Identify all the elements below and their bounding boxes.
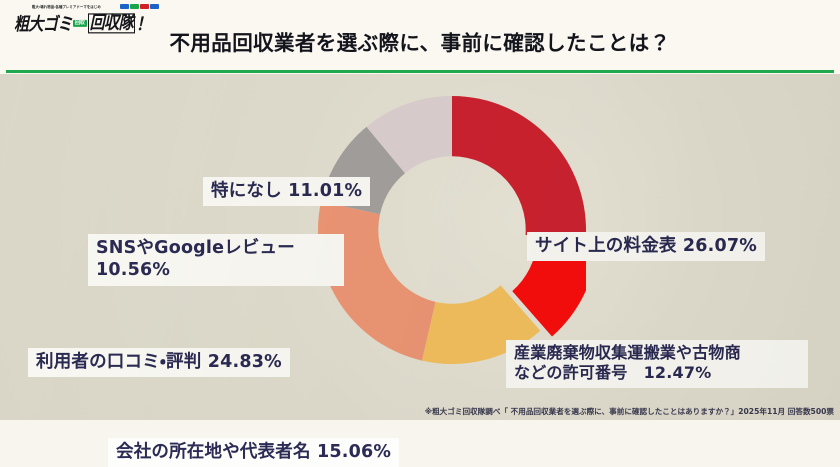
logo-chip-green bbox=[130, 4, 139, 9]
donut-chart-svg bbox=[318, 80, 586, 380]
logo-chip-red bbox=[140, 4, 149, 9]
logo-chip-blue bbox=[120, 4, 129, 9]
logo-tagline: 粗大・壊れ物品・各種プレミアドーマをはじめ bbox=[32, 4, 101, 9]
logo-chip-blue-2 bbox=[150, 4, 159, 9]
donut-slice bbox=[321, 127, 405, 214]
donut-slice bbox=[422, 285, 540, 364]
donut-slice bbox=[318, 201, 435, 360]
donut-chart bbox=[318, 80, 586, 380]
label-site-price-list: サイト上の料金表 26.07% bbox=[527, 232, 765, 261]
label-user-reviews: 利用者の口コミ・評判 24.83% bbox=[28, 348, 290, 377]
label-sns-google: SNSやGoogleレビュー 10.56% bbox=[88, 234, 344, 286]
infographic-root: 粗大・壊れ物品・各種プレミアドーマをはじめ 粗大ゴミ 回収 回収隊 ！ 不用品回… bbox=[0, 0, 840, 420]
logo-chips bbox=[120, 4, 159, 9]
donut-slice bbox=[367, 96, 452, 173]
chart-stage: サイト上の料金表 26.07% 産業廃棄物収集運搬業や古物商 などの許可番号 1… bbox=[0, 74, 840, 420]
label-company-address: 会社の所在地や代表者名 15.06% bbox=[108, 438, 399, 467]
header-divider bbox=[6, 70, 834, 73]
page-header: 粗大・壊れ物品・各種プレミアドーマをはじめ 粗大ゴミ 回収 回収隊 ！ 不用品回… bbox=[0, 0, 840, 74]
label-none-in-particular: 特になし 11.01% bbox=[203, 177, 370, 206]
label-permit-number: 産業廃棄物収集運搬業や古物商 などの許可番号 12.47% bbox=[506, 340, 808, 388]
donut-slice bbox=[452, 96, 586, 239]
page-title: 不用品回収業者を選ぶ際に、事前に確認したことは？ bbox=[0, 26, 840, 56]
brand-logo[interactable]: 粗大・壊れ物品・各種プレミアドーマをはじめ 粗大ゴミ 回収 回収隊 ！ bbox=[8, 2, 158, 28]
donut-slice bbox=[512, 241, 586, 337]
survey-footnote: ※粗大ゴミ回収隊調べ「 不用品回収業者を選ぶ際に、事前に確認したことはありますか… bbox=[425, 406, 834, 417]
